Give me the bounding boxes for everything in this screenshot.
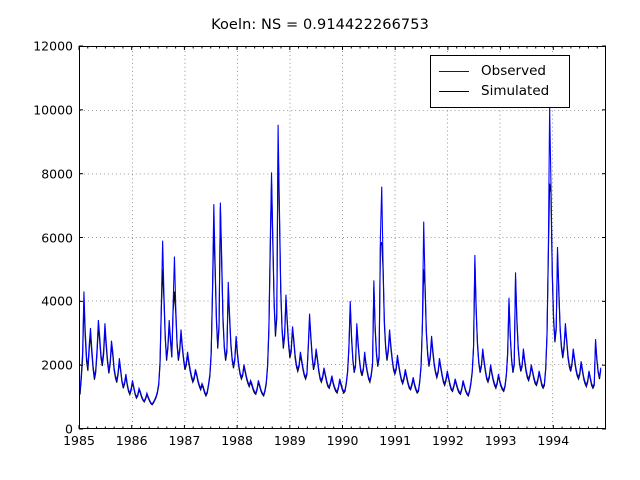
legend-entry-observed: Observed — [439, 61, 561, 81]
x-tick-label: 1988 — [221, 433, 253, 448]
x-tick-label: 1994 — [537, 433, 569, 448]
x-tick-label: 1987 — [168, 433, 200, 448]
x-tick-label: 1989 — [274, 433, 306, 448]
x-tick-label: 1990 — [327, 433, 359, 448]
page-title: Koeln: NS = 0.914422266753 — [0, 17, 640, 33]
series-observed — [80, 107, 601, 404]
legend-swatch-observed — [439, 71, 469, 72]
legend-swatch-simulated — [439, 91, 469, 92]
y-tick-label: 2000 — [3, 358, 73, 373]
x-tick-label: 1993 — [485, 433, 517, 448]
y-tick-label: 10000 — [3, 102, 73, 117]
y-tick-label: 8000 — [3, 166, 73, 181]
legend-label-observed: Observed — [481, 63, 546, 79]
y-tick-label: 6000 — [3, 230, 73, 245]
x-tick-label: 1985 — [63, 433, 95, 448]
y-axis-tick-labels: 020004000600080001000012000 — [0, 0, 73, 480]
y-tick-label: 12000 — [3, 39, 73, 54]
y-tick-label: 4000 — [3, 294, 73, 309]
x-tick-label: 1992 — [432, 433, 464, 448]
legend-label-simulated: Simulated — [481, 83, 549, 99]
legend-box: Observed Simulated — [430, 55, 570, 108]
x-tick-label: 1986 — [116, 433, 148, 448]
figure-canvas: Koeln: NS = 0.914422266753 0200040006000… — [0, 0, 640, 480]
legend-entry-simulated: Simulated — [439, 81, 561, 101]
x-tick-label: 1991 — [379, 433, 411, 448]
series-simulated — [80, 142, 601, 405]
